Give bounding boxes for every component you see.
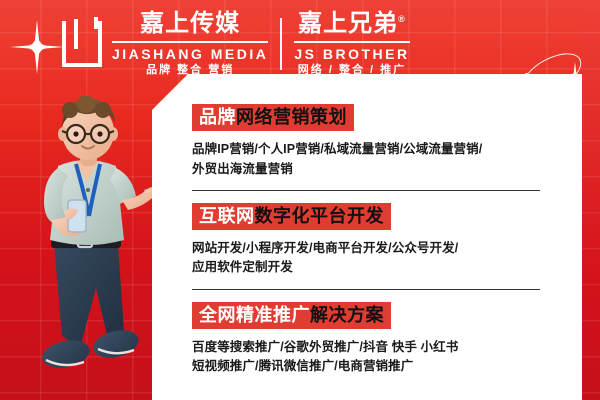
right-strip-grid: [582, 0, 600, 400]
brand-right-name-cn: 嘉上兄弟: [298, 10, 398, 37]
service-section: 品牌网络营销策划 品牌IP营销/个人IP营销/私域流量营销/公域流量营销/ 外贸…: [192, 104, 554, 191]
service-description: 网站开发/小程序开发/电商平台开发/公众号开发/ 应用软件定制开发: [192, 239, 554, 278]
service-description-line: 百度等搜索推广/谷歌外贸推广/抖音 快手 小红书: [192, 338, 554, 357]
section-divider: [192, 289, 540, 290]
brand-right-name-cn-wrap: 嘉上兄弟®: [298, 12, 406, 36]
service-description-line: 外贸出海流量营销: [192, 160, 554, 179]
content-panel-inner: 品牌网络营销策划 品牌IP营销/个人IP营销/私域流量营销/公域流量营销/ 外贸…: [152, 74, 582, 377]
service-heading-highlight: 互联网: [199, 206, 255, 226]
service-heading-rest: 数字化平台开发: [255, 206, 385, 226]
service-heading-highlight: 品牌: [199, 107, 236, 127]
service-section: 互联网数字化平台开发 网站开发/小程序开发/电商平台开发/公众号开发/ 应用软件…: [192, 203, 554, 290]
registered-mark-icon: ®: [398, 14, 406, 24]
brand-right: 嘉上兄弟® JS BROTHER 网络 / 整合 / 推广: [294, 12, 409, 76]
service-description-line: 应用软件定制开发: [192, 258, 554, 277]
section-divider: [192, 190, 540, 191]
character-illustration: [18, 96, 163, 396]
service-description-line: 短视频推广/腾讯微信推广/电商营销推广: [192, 357, 554, 376]
content-panel: 品牌网络营销策划 品牌IP营销/个人IP营销/私域流量营销/公域流量营销/ 外贸…: [152, 74, 582, 400]
service-heading: 全网精准推广解决方案: [192, 302, 391, 329]
service-heading-highlight: 全网精准推广: [199, 305, 310, 325]
service-heading-rest: 网络营销策划: [236, 107, 347, 127]
service-heading: 互联网数字化平台开发: [192, 203, 391, 230]
service-description: 百度等搜索推广/谷歌外贸推广/抖音 快手 小红书 短视频推广/腾讯微信推广/电商…: [192, 338, 554, 377]
service-heading-rest: 解决方案: [310, 305, 384, 325]
jiashang-monogram-icon: [62, 21, 102, 67]
service-description-line: 网站开发/小程序开发/电商平台开发/公众号开发/: [192, 239, 554, 258]
brand-left-name-cn: 嘉上传媒: [140, 12, 240, 36]
brand-right-name-en: JS BROTHER: [294, 41, 409, 61]
service-description: 品牌IP营销/个人IP营销/私域流量营销/公域流量营销/ 外贸出海流量营销: [192, 140, 554, 179]
poster-canvas: 嘉上传媒 JIASHANG MEDIA 品牌 整合 营销 嘉上兄弟® JS BR…: [0, 0, 600, 400]
service-description-line: 品牌IP营销/个人IP营销/私域流量营销/公域流量营销/: [192, 140, 554, 159]
brand-left: 嘉上传媒 JIASHANG MEDIA 品牌 整合 营销: [112, 12, 268, 76]
brand-divider: [280, 18, 282, 70]
service-section: 全网精准推广解决方案 百度等搜索推广/谷歌外贸推广/抖音 快手 小红书 短视频推…: [192, 302, 554, 377]
brand-left-name-en: JIASHANG MEDIA: [112, 41, 268, 61]
right-edge-strip: [582, 0, 600, 400]
service-heading: 品牌网络营销策划: [192, 104, 354, 131]
